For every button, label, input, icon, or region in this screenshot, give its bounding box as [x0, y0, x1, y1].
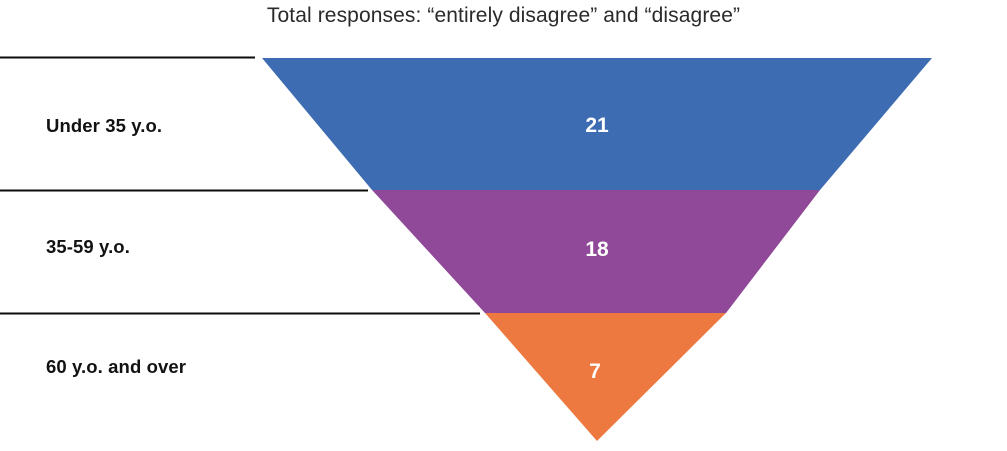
category-label-60-over: 60 y.o. and over [46, 356, 186, 378]
category-label-under-35: Under 35 y.o. [46, 115, 162, 137]
funnel-graphic: 21 18 7 [0, 0, 1007, 451]
funnel-segment-value-60-over: 7 [589, 360, 601, 383]
funnel-chart: Total responses: “entirely disagree” and… [0, 0, 1007, 451]
category-label-35-59: 35-59 y.o. [46, 236, 130, 258]
funnel-segment-value-35-59: 18 [585, 238, 609, 261]
funnel-segment-value-under-35: 21 [585, 114, 609, 137]
funnel-segment-60-over[interactable] [485, 313, 726, 441]
